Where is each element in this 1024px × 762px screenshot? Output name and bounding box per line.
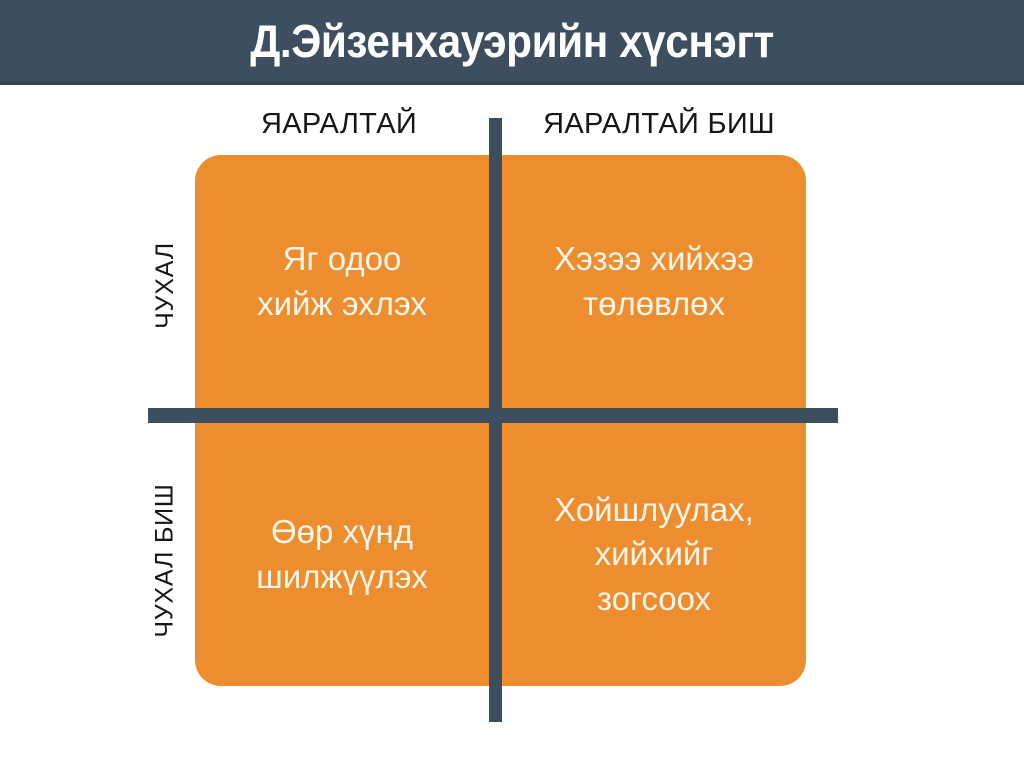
column-header-urgent: ЯАРАЛТАЙ [195, 103, 483, 145]
axis-line-vertical [489, 118, 502, 722]
quadrant-do[interactable]: Яг одоо хийж эхлэх [195, 155, 489, 408]
row-label-important: ЧУХАЛ [140, 170, 190, 400]
eisenhower-matrix: ЯАРАЛТАЙ ЯАРАЛТАЙ БИШ ЧУХАЛ ЧУХАЛ БИШ Яг… [0, 85, 1024, 762]
quadrant-schedule[interactable]: Хэзээ хийхээ төлөвлөх [502, 155, 806, 408]
page-title: Д.Эйзенхауэрийн хүснэгт [41, 0, 983, 82]
row-label-not-important-text: ЧУХАЛ БИШ [151, 483, 180, 637]
header-bar: Д.Эйзенхауэрийн хүснэгт [0, 0, 1024, 85]
quadrant-delegate[interactable]: Өөр хүнд шилжүүлэх [195, 423, 489, 686]
row-label-not-important: ЧУХАЛ БИШ [140, 433, 190, 688]
column-header-not-urgent: ЯАРАЛТАЙ БИШ [512, 103, 806, 145]
quadrant-delete[interactable]: Хойшлуулах, хийхийг зогсоох [502, 423, 806, 686]
row-label-important-text: ЧУХАЛ [151, 242, 180, 329]
